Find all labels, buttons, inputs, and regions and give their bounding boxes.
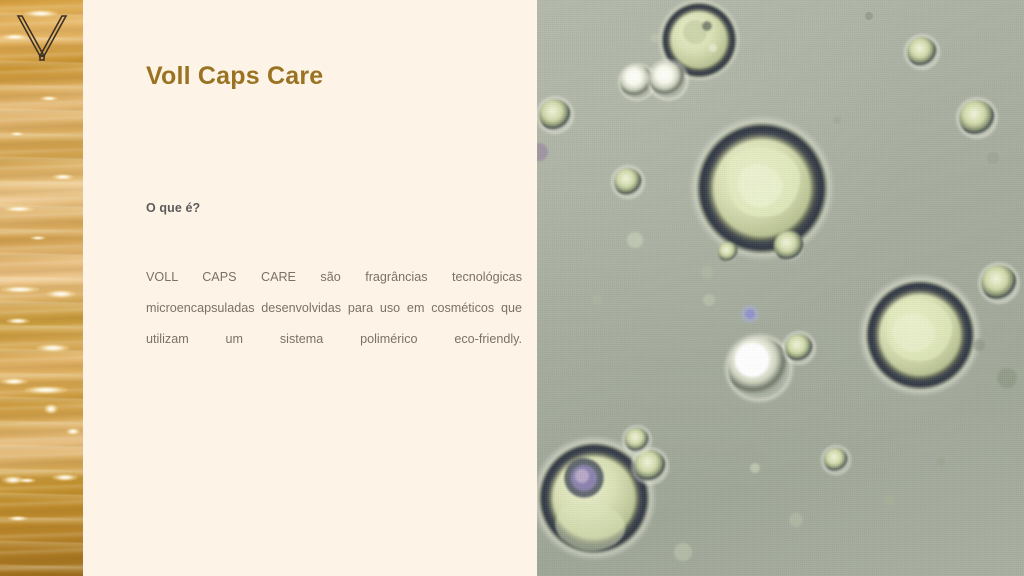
gold-highlight-spark (6, 318, 30, 324)
gold-highlight-spark (8, 516, 28, 521)
image-grain-overlay (537, 0, 1024, 576)
gold-highlight-spark (10, 132, 24, 136)
gold-highlight-spark (0, 378, 28, 385)
microscopy-microcapsules-image (537, 0, 1024, 576)
gold-highlight-spark (24, 386, 68, 394)
gold-highlight-spark (40, 96, 58, 101)
gold-highlight-spark (52, 474, 78, 481)
section-subheading: O que é? (146, 201, 200, 215)
gold-highlight-spark (30, 236, 46, 240)
gold-highlight-spark (52, 174, 74, 180)
gold-accent-strip (0, 0, 83, 576)
gold-highlight-spark (0, 286, 40, 293)
presentation-slide: Voll Caps Care O que é? VOLL CAPS CARE s… (0, 0, 1024, 576)
gold-highlight-spark (44, 404, 58, 414)
gold-highlight-spark (36, 344, 70, 352)
text-panel: Voll Caps Care O que é? VOLL CAPS CARE s… (83, 0, 537, 576)
gold-highlight-spark (4, 206, 34, 212)
gold-highlight-spark (18, 478, 36, 483)
gold-highlight-spark (66, 428, 80, 435)
gold-highlight-spark (46, 290, 76, 298)
body-paragraph: VOLL CAPS CARE são fragrâncias tecnológi… (146, 262, 522, 386)
voll-v-logo-icon (14, 12, 74, 68)
page-title: Voll Caps Care (146, 62, 323, 91)
